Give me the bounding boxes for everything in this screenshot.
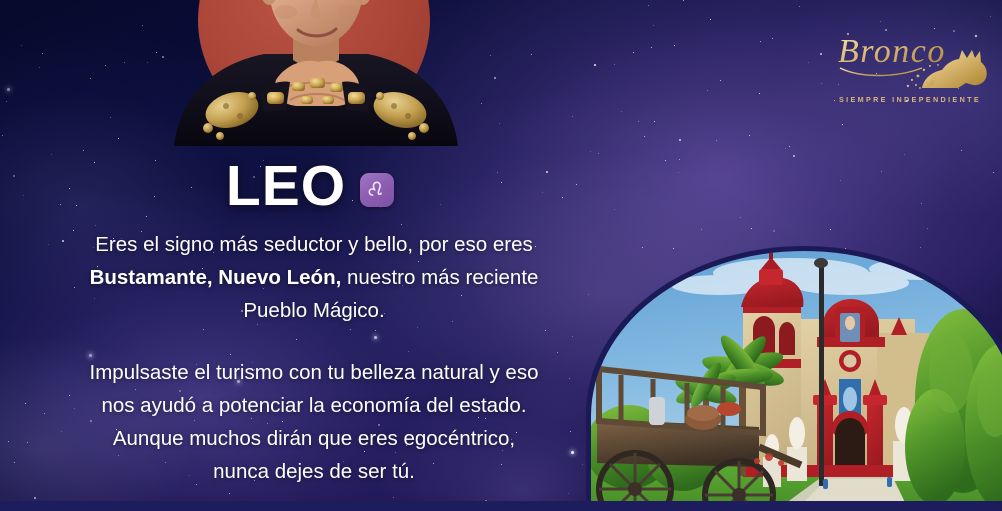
page-title: LEO bbox=[226, 158, 346, 215]
p1-line2: Bustamante, Nuevo León, nuestro más reci… bbox=[36, 261, 592, 294]
horoscope-copy: Eres el signo más seductor y bello, por … bbox=[36, 228, 592, 488]
p2-line3: Aunque muchos dirán que eres egocéntrico… bbox=[36, 422, 592, 455]
p1-line3: Pueblo Mágico. bbox=[36, 294, 592, 327]
svg-text:Bronco: Bronco bbox=[838, 33, 946, 70]
portrait-container bbox=[168, 0, 464, 146]
bottom-band bbox=[0, 501, 1002, 511]
bronco-logo: Bronco bbox=[826, 22, 994, 120]
p2-line4: nunca dejes de ser tú. bbox=[36, 455, 592, 488]
p2-line2: nos ayudó a potenciar la economía del es… bbox=[36, 389, 592, 422]
p1-line2-rest: nuestro más reciente bbox=[341, 266, 538, 289]
paragraph-spacer bbox=[36, 327, 592, 356]
paragraph-two: Impulsaste el turismo con tu belleza nat… bbox=[36, 356, 592, 488]
pueblo-photo-container bbox=[586, 246, 1002, 511]
paragraph-one: Eres el signo más seductor y bello, por … bbox=[36, 228, 592, 327]
p2-line1: Impulsaste el turismo con tu belleza nat… bbox=[36, 356, 592, 389]
portrait-photo bbox=[168, 0, 464, 146]
bronco-wordmark-icon: Bronco bbox=[826, 22, 994, 94]
leo-symbol-icon bbox=[360, 173, 394, 207]
zodiac-title-row: LEO bbox=[0, 158, 620, 215]
highlight-place: Bustamante, Nuevo León, bbox=[90, 266, 342, 289]
logo-tagline: SIEMPRE INDEPENDIENTE bbox=[826, 95, 994, 104]
p1-line1: Eres el signo más seductor y bello, por … bbox=[36, 228, 592, 261]
pueblo-photo bbox=[591, 251, 1002, 511]
zodiac-card: LEO Eres el signo más seductor y bello, … bbox=[0, 0, 1002, 511]
